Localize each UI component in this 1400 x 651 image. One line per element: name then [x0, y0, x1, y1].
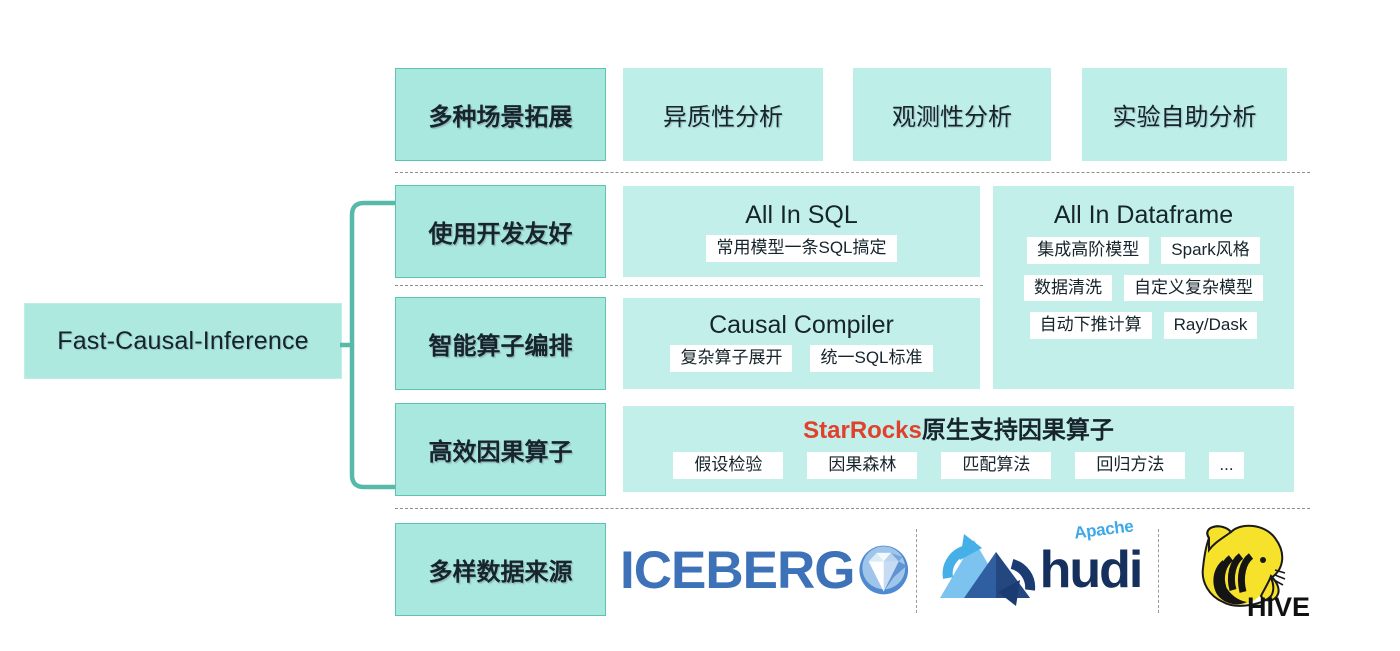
- iceberg-wordmark: ICEBERG: [620, 540, 854, 601]
- logo-hudi[interactable]: Apache hudi: [925, 519, 1150, 621]
- logo-iceberg[interactable]: ICEBERG: [620, 519, 910, 621]
- tag-more-ellipsis[interactable]: ...: [1209, 452, 1243, 479]
- layer-label-causal-operators-text: 高效因果算子: [429, 432, 573, 467]
- tag-auto-pushdown-compute[interactable]: 自动下推计算: [1030, 312, 1152, 339]
- panel-all-in-dataframe-title: All In Dataframe: [993, 202, 1294, 228]
- panel-causal-compiler-title: Causal Compiler: [623, 312, 980, 338]
- hive-bee-elephant-icon: HIVE: [1179, 520, 1309, 620]
- layer-label-dev-friendly-text: 使用开发友好: [429, 214, 573, 249]
- logo-hive[interactable]: HIVE: [1168, 519, 1320, 621]
- panel-starrocks-title: StarRocks原生支持因果算子: [623, 418, 1294, 443]
- diagram-canvas: Fast-Causal-Inference 多种场景拓展 异质性分析 观测性分析…: [0, 0, 1400, 651]
- root-node-label: Fast-Causal-Inference: [57, 327, 309, 356]
- scenario-chip-self-service[interactable]: 实验自助分析: [1082, 68, 1287, 161]
- panel-all-in-dataframe[interactable]: All In Dataframe 集成高阶模型 Spark风格 数据清洗 自定义…: [993, 186, 1294, 389]
- scenario-chip-observational-label: 观测性分析: [892, 97, 1012, 132]
- hive-wordmark-text: HIVE: [1247, 592, 1309, 620]
- iceberg-gem-icon: [858, 534, 910, 606]
- hudi-apache-superscript: Apache: [1073, 516, 1135, 543]
- logo-divider-2: [1158, 529, 1159, 613]
- layer-label-data-sources[interactable]: 多样数据来源: [395, 523, 606, 616]
- layer-label-data-sources-text: 多样数据来源: [429, 552, 573, 587]
- scenario-chip-self-service-label: 实验自助分析: [1113, 97, 1257, 132]
- hudi-mountain-arrows-icon: [934, 530, 1046, 610]
- tag-regression-method[interactable]: 回归方法: [1075, 452, 1185, 479]
- separator-after-dev-friendly: [395, 285, 983, 286]
- root-node-fast-causal-inference[interactable]: Fast-Causal-Inference: [24, 303, 342, 379]
- layer-label-dev-friendly[interactable]: 使用开发友好: [395, 185, 606, 278]
- scenario-chip-observational[interactable]: 观测性分析: [853, 68, 1051, 161]
- scenario-chip-heterogeneity-label: 异质性分析: [663, 97, 783, 132]
- tag-spark-style[interactable]: Spark风格: [1161, 237, 1259, 264]
- layer-label-scenarios[interactable]: 多种场景拓展: [395, 68, 606, 161]
- layer-label-causal-operators[interactable]: 高效因果算子: [395, 403, 606, 496]
- tag-unified-sql-standard[interactable]: 统一SQL标准: [810, 345, 932, 372]
- panel-starrocks-operators[interactable]: StarRocks原生支持因果算子 假设检验 因果森林 匹配算法 回归方法 ..…: [623, 406, 1294, 492]
- panel-all-in-sql[interactable]: All In SQL 常用模型一条SQL搞定: [623, 186, 980, 277]
- layer-label-scenarios-text: 多种场景拓展: [429, 97, 573, 132]
- tag-data-cleaning[interactable]: 数据清洗: [1024, 275, 1112, 302]
- hudi-wordmark: hudi: [1040, 541, 1142, 599]
- logo-divider-1: [916, 529, 917, 613]
- scenario-chip-heterogeneity[interactable]: 异质性分析: [623, 68, 823, 161]
- starrocks-title-rest: 原生支持因果算子: [922, 417, 1114, 444]
- starrocks-brand-text: StarRocks: [803, 417, 922, 444]
- tag-hypothesis-testing[interactable]: 假设检验: [673, 452, 783, 479]
- tag-matching-algorithm[interactable]: 匹配算法: [941, 452, 1051, 479]
- layer-label-operator-orchestration-text: 智能算子编排: [429, 326, 573, 361]
- tag-causal-forest[interactable]: 因果森林: [807, 452, 917, 479]
- separator-after-scenarios: [395, 172, 1310, 173]
- tag-complex-operator-expansion[interactable]: 复杂算子展开: [670, 345, 792, 372]
- layer-label-operator-orchestration[interactable]: 智能算子编排: [395, 297, 606, 390]
- separator-after-causal-operators: [395, 508, 1310, 509]
- panel-causal-compiler[interactable]: Causal Compiler 复杂算子展开 统一SQL标准: [623, 298, 980, 389]
- tag-ray-dask[interactable]: Ray/Dask: [1164, 312, 1258, 339]
- panel-all-in-sql-title: All In SQL: [623, 202, 980, 228]
- tag-custom-complex-models[interactable]: 自定义复杂模型: [1124, 275, 1263, 302]
- tag-sql-one-liner[interactable]: 常用模型一条SQL搞定: [706, 235, 896, 262]
- bracket-connector: [340, 195, 402, 495]
- data-source-logo-row: ICEBERG: [620, 519, 1320, 621]
- tag-integrated-advanced-models[interactable]: 集成高阶模型: [1027, 237, 1149, 264]
